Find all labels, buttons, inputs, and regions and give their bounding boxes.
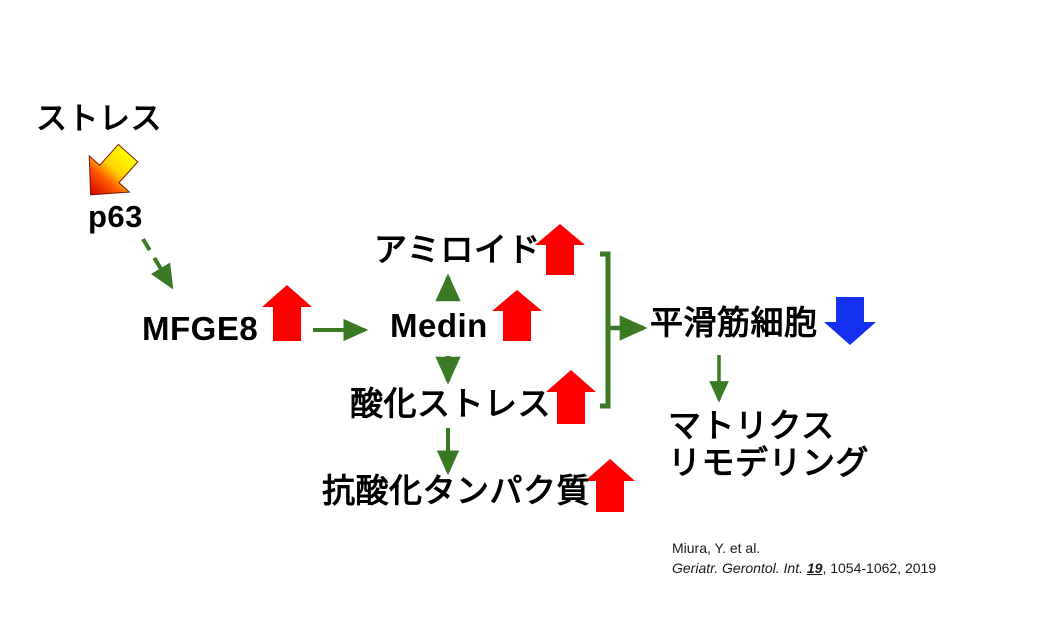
edge-p63-to-mfge8 (143, 239, 170, 284)
up-arrow-icon-antioxidant-protein (585, 459, 635, 512)
node-mfge8-label: MFGE8 (142, 311, 258, 348)
node-amyloid-label: アミロイド (374, 232, 541, 269)
node-p63-label: p63 (88, 200, 143, 235)
citation: Miura, Y. et al. Geriatr. Gerontol. Int.… (672, 538, 936, 579)
down-arrow-icon-smooth-muscle-cell (824, 297, 876, 345)
node-stress-label: ストレス (36, 102, 162, 137)
node-matrix-remodeling-line1: マトリクス (668, 408, 869, 445)
node-smooth-muscle-cell-label: 平滑筋細胞 (650, 305, 818, 342)
citation-reference: Geriatr. Gerontol. Int. 19, 1054-1062, 2… (672, 558, 936, 578)
node-matrix-remodeling-label: マトリクス リモデリング (668, 408, 869, 482)
node-antioxidant-protein-label: 抗酸化タンパク質 (322, 473, 590, 510)
node-medin-label: Medin (390, 308, 488, 345)
up-arrow-icon-oxidative-stress (546, 370, 596, 424)
node-oxidative-stress-label: 酸化ストレス (350, 386, 551, 423)
up-arrow-icon-amyloid (535, 224, 585, 275)
citation-authors: Miura, Y. et al. (672, 538, 936, 558)
citation-journal: Geriatr. Gerontol. Int. (672, 560, 803, 576)
up-arrow-icon-medin (492, 290, 542, 341)
citation-pages: , 1054-1062, 2019 (822, 560, 936, 576)
citation-volume: 19 (807, 560, 823, 576)
node-matrix-remodeling-line2: リモデリング (668, 445, 869, 482)
diagram-canvas: ストレス p63 MFGE8 アミロイド Medin 酸化ストレス 抗酸化タンパ… (0, 0, 1040, 644)
group-bracket (600, 254, 608, 406)
up-arrow-icon-mfge8 (262, 285, 312, 341)
